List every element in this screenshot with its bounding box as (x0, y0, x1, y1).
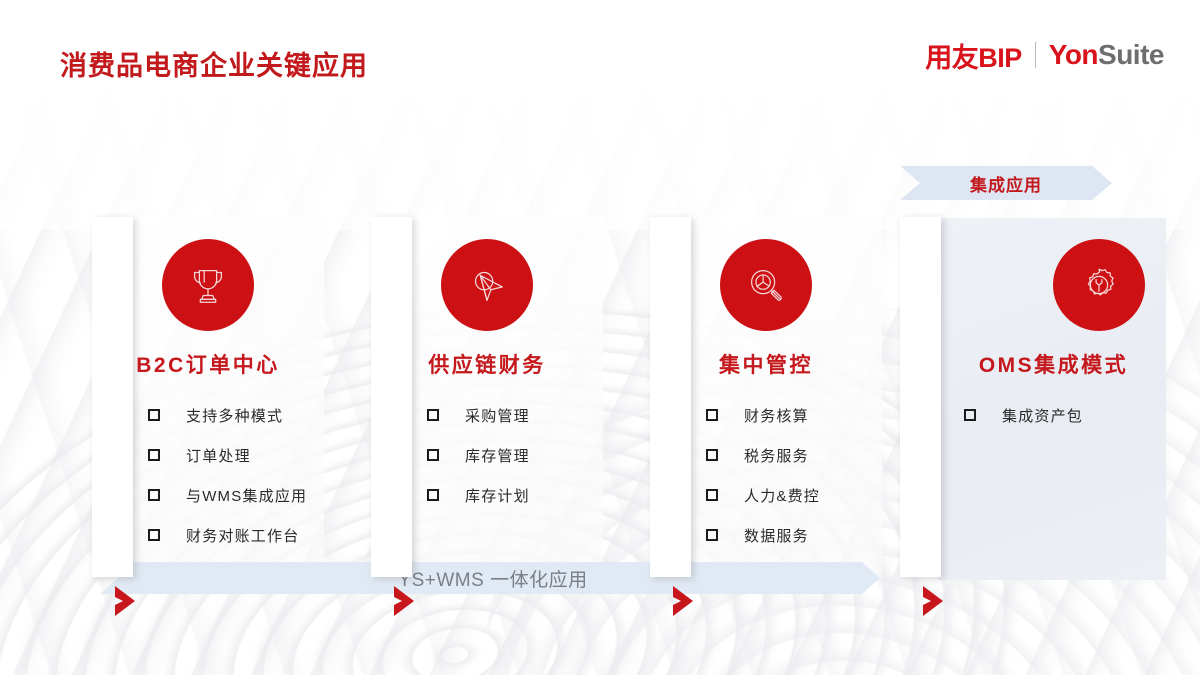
square-bullet-icon (148, 529, 160, 541)
card-oms-integration-mode[interactable]: OMS集成模式 集成资产包 (900, 217, 1166, 577)
square-bullet-icon (706, 449, 718, 461)
bottom-banner: YS+WMS 一体化应用 (100, 562, 880, 594)
card-supply-chain-finance[interactable]: 供应链财务 采购管理 库存管理 库存计划 (371, 217, 603, 577)
slide-canvas: 消费品电商企业关键应用 用友BIP Yon Suite 集成应用 (0, 0, 1200, 675)
brand-bip-label: 用友BIP (925, 36, 1022, 75)
list-item-label: 支持多种模式 (186, 405, 283, 426)
brand-divider (1035, 42, 1036, 68)
chevron-right-icon (392, 584, 422, 618)
list-item[interactable]: 与WMS集成应用 (148, 475, 320, 515)
list-item[interactable]: 数据服务 (706, 515, 878, 555)
square-bullet-icon (427, 409, 439, 421)
list-item-label: 集成资产包 (1002, 405, 1083, 426)
square-bullet-icon (706, 409, 718, 421)
card-feature-list: 支持多种模式 订单处理 与WMS集成应用 财务对账工作台 (148, 395, 320, 555)
list-item-label: 订单处理 (186, 445, 251, 466)
card-title: OMS集成模式 (941, 349, 1166, 379)
square-bullet-icon (964, 409, 976, 421)
brand-suite-label: Suite (1098, 39, 1164, 71)
list-item-label: 人力&费控 (744, 485, 820, 506)
chevron-right-icon (113, 584, 143, 618)
card-title: 集中管控 (650, 349, 882, 379)
square-bullet-icon (148, 449, 160, 461)
card-title: B2C订单中心 (92, 349, 324, 379)
cursor-click-icon (441, 239, 533, 331)
list-item[interactable]: 支持多种模式 (148, 395, 320, 435)
chevron-right-icon (671, 584, 701, 618)
card-side-tab (92, 217, 133, 577)
chevron-right-icon (921, 584, 951, 618)
card-feature-list: 采购管理 库存管理 库存计划 (427, 395, 599, 515)
square-bullet-icon (148, 409, 160, 421)
brand-logo: 用友BIP Yon Suite (925, 38, 1164, 72)
square-bullet-icon (706, 489, 718, 501)
list-item-label: 税务服务 (744, 445, 809, 466)
list-item-label: 库存管理 (465, 445, 530, 466)
card-feature-list: 财务核算 税务服务 人力&费控 数据服务 (706, 395, 878, 555)
list-item[interactable]: 库存计划 (427, 475, 599, 515)
gear-wrench-icon (1053, 239, 1145, 331)
list-item[interactable]: 财务对账工作台 (148, 515, 320, 555)
list-item[interactable]: 采购管理 (427, 395, 599, 435)
list-item-label: 库存计划 (465, 485, 530, 506)
list-item-label: 采购管理 (465, 405, 530, 426)
list-item-label: 数据服务 (744, 525, 809, 546)
card-side-tab (650, 217, 691, 577)
list-item-label: 与WMS集成应用 (186, 485, 307, 506)
page-title: 消费品电商企业关键应用 (60, 44, 368, 83)
card-title: 供应链财务 (371, 349, 603, 379)
integration-banner: 集成应用 (900, 166, 1112, 200)
list-item[interactable]: 财务核算 (706, 395, 878, 435)
pie-chart-magnifier-icon (720, 239, 812, 331)
brand-yon-label: Yon (1049, 39, 1098, 71)
integration-banner-label: 集成应用 (970, 171, 1042, 196)
card-side-tab (371, 217, 412, 577)
list-item[interactable]: 人力&费控 (706, 475, 878, 515)
square-bullet-icon (148, 489, 160, 501)
list-item-label: 财务对账工作台 (186, 525, 299, 546)
square-bullet-icon (706, 529, 718, 541)
square-bullet-icon (427, 449, 439, 461)
card-feature-list: 集成资产包 (964, 395, 1162, 435)
list-item[interactable]: 税务服务 (706, 435, 878, 475)
list-item[interactable]: 订单处理 (148, 435, 320, 475)
trophy-icon (162, 239, 254, 331)
card-centralized-control[interactable]: 集中管控 财务核算 税务服务 人力&费控 数据服务 (650, 217, 882, 577)
list-item-label: 财务核算 (744, 405, 809, 426)
card-b2c-order-center[interactable]: B2C订单中心 支持多种模式 订单处理 与WMS集成应用 财务对账工作台 (92, 217, 324, 577)
square-bullet-icon (427, 489, 439, 501)
list-item[interactable]: 库存管理 (427, 435, 599, 475)
list-item[interactable]: 集成资产包 (964, 395, 1162, 435)
card-side-tab (900, 217, 941, 577)
